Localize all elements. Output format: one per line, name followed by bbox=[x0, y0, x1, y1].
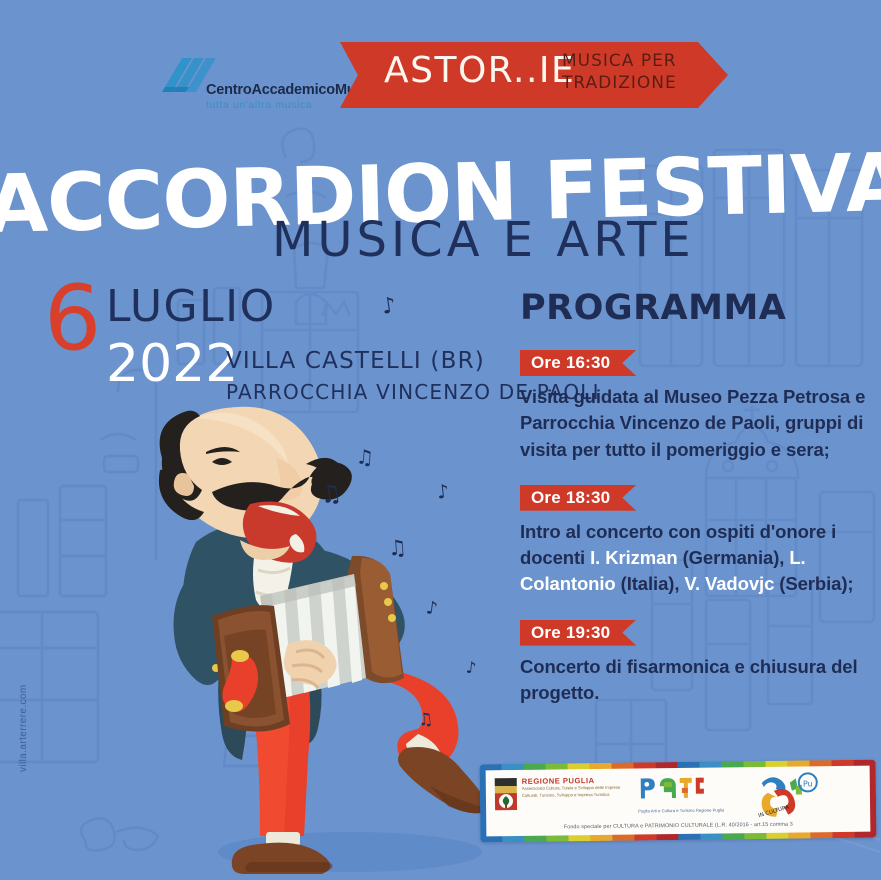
guest-name: I. Krizman bbox=[590, 547, 677, 568]
astorie-banner: ASTOR..IE MUSICA PER TRADIZIONE bbox=[340, 42, 728, 108]
music-note-icon: ♫ bbox=[387, 537, 407, 559]
music-note-icon: ♪ bbox=[436, 482, 450, 502]
programma-item-body: Intro al concerto con ospiti d'onore i d… bbox=[520, 519, 875, 598]
music-note-icon: ♫ bbox=[318, 480, 343, 507]
svg-text:Pu: Pu bbox=[803, 779, 813, 788]
banner-title: ASTOR..IE bbox=[384, 50, 575, 91]
body-text: (Germania), bbox=[678, 547, 790, 568]
logo-tagline: tutta un'altra musica bbox=[206, 99, 312, 111]
pact-caption: Puglia Arti e Cultura e Turismo Regione … bbox=[638, 807, 728, 815]
poster-root: CentroAccademicoMusicale tutta un'altra … bbox=[0, 0, 881, 880]
music-note-icon: ♫ bbox=[355, 446, 374, 467]
event-year: 2022 bbox=[106, 338, 238, 390]
event-venue-city: VILLA CASTELLI (BR) bbox=[226, 348, 485, 374]
programma-item-body: Visita guidata al Museo Pezza Petrosa e … bbox=[520, 384, 875, 463]
time-badge-label: Ore 16:30 bbox=[531, 350, 610, 376]
sponsor-inner: REGIONE PUGLIA Assessorato Cultura, Tute… bbox=[486, 766, 871, 837]
banner-subtitle: MUSICA PER TRADIZIONE bbox=[562, 50, 677, 95]
crest-icon bbox=[494, 777, 518, 811]
music-note-icon: ♫ bbox=[417, 711, 434, 730]
event-month: LUGLIO bbox=[106, 285, 276, 329]
centro-accademico-logo: CentroAccademicoMusicale tutta un'altra … bbox=[158, 52, 358, 118]
guest-name: V. Vadovjc bbox=[684, 573, 774, 594]
time-badge-label: Ore 18:30 bbox=[531, 485, 610, 511]
banner-subtitle-line1: MUSICA PER bbox=[562, 51, 677, 71]
pact-logo: Puglia Arti e Cultura e Turismo Regione … bbox=[638, 773, 728, 815]
programma-heading: PROGRAMMA bbox=[520, 288, 875, 328]
programma-item: Ore 19:30 Concerto di fisarmonica e chiu… bbox=[520, 620, 875, 707]
time-badge: Ore 19:30 bbox=[520, 620, 636, 646]
time-badge: Ore 18:30 bbox=[520, 485, 636, 511]
investiamo-mark-icon: Pu IN CULTURA bbox=[744, 768, 823, 821]
programma-item: Ore 16:30 Visita guidata al Museo Pezza … bbox=[520, 350, 875, 463]
watermark: villa.arterrere.com bbox=[18, 684, 29, 772]
page-subtitle: MUSICA E ARTE bbox=[272, 208, 792, 272]
time-badge-label: Ore 19:30 bbox=[531, 620, 610, 646]
regione-puglia-logo: REGIONE PUGLIA Assessorato Cultura, Tute… bbox=[494, 774, 624, 776]
music-note-icon: ♪ bbox=[465, 660, 477, 677]
music-note-icon: ♪ bbox=[381, 295, 398, 319]
banner-subtitle-line2: TRADIZIONE bbox=[562, 73, 677, 93]
body-text: (Italia), bbox=[616, 573, 685, 594]
sponsor-footer: REGIONE PUGLIA Assessorato Cultura, Tute… bbox=[480, 760, 877, 843]
body-text: (Serbia); bbox=[774, 573, 853, 594]
time-badge: Ore 16:30 bbox=[520, 350, 636, 376]
regione-subtitle: Assessorato Cultura, Tutela e Sviluppo d… bbox=[522, 785, 622, 799]
programma-item-body: Concerto di fisarmonica e chiusura del p… bbox=[520, 654, 875, 707]
event-day: 6 bbox=[44, 274, 101, 364]
pact-mark-icon bbox=[638, 774, 706, 801]
programma-item: Ore 18:30 Intro al concerto con ospiti d… bbox=[520, 485, 875, 598]
accordion-player-illustration bbox=[100, 400, 520, 880]
investiamo-in-cultura-logo: Pu IN CULTURA bbox=[744, 768, 823, 821]
sponsor-footer-note: Fondo speciale per CULTURA e PATRIMONIO … bbox=[486, 821, 870, 832]
programma-panel: PROGRAMMA Ore 16:30 Visita guidata al Mu… bbox=[520, 288, 875, 728]
